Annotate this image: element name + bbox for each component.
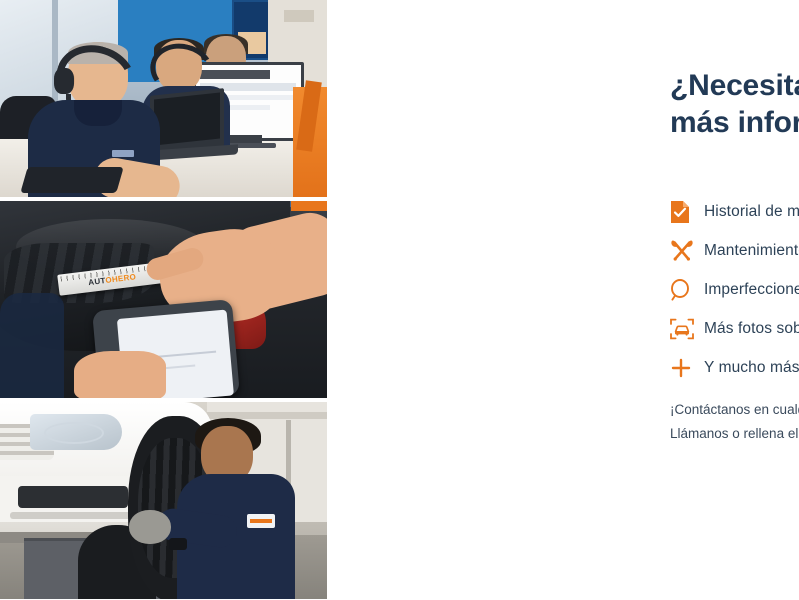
photo-wall-detail [284, 10, 314, 22]
photo-chrome-trim [10, 512, 140, 519]
feature-label: Más fotos sobre el coche [704, 320, 799, 338]
call-center-agents-photo [0, 0, 327, 197]
plus-icon [670, 357, 704, 379]
mechanic-wheel-photo [0, 402, 327, 599]
page-title: ¿Necesitas más información? [670, 68, 799, 141]
feature-label: Imperfecciones [704, 281, 799, 299]
tools-cross-icon [670, 239, 704, 263]
feature-label: Historial de mantenimientos [704, 203, 799, 221]
contact-line-1: ¡Contáctanos en cualquier momento para m… [670, 398, 799, 422]
feature-item-mantenimiento: Mantenimiento realizado [670, 231, 799, 270]
feature-item-fotos: Más fotos sobre el coche [670, 309, 799, 348]
car-viewfinder-icon [670, 318, 704, 340]
document-check-icon [670, 200, 704, 224]
vehicle-inspection-photo: AUTOHERO [0, 201, 327, 398]
contact-text: ¡Contáctanos en cualquier momento para m… [670, 398, 799, 445]
photo-column: AUTOHERO [0, 0, 327, 600]
photo-bumper-vent [18, 486, 128, 508]
feature-label: Mantenimiento realizado [704, 242, 799, 260]
feature-list: Historial de mantenimientos Mantenimient… [670, 192, 799, 387]
content-panel: ¿Necesitas más información? Estamos enca… [327, 0, 799, 600]
info-banner: AUTOHERO [0, 0, 799, 600]
magnifier-icon [670, 278, 704, 302]
contact-line-2: Llámanos o rellena el formulario de cont… [670, 422, 799, 446]
photo-desk-tablet [20, 167, 123, 193]
photo-headlight [30, 414, 122, 450]
feature-item-imperfecciones: Imperfecciones [670, 270, 799, 309]
page-title-line1: ¿Necesitas [670, 68, 799, 105]
photo-background-person [0, 293, 64, 398]
feature-label: Y mucho más [704, 359, 799, 377]
feature-item-historial: Historial de mantenimientos [670, 192, 799, 231]
photo-inspector-hand-lower [74, 351, 166, 398]
feature-item-mas: Y mucho más [670, 348, 799, 387]
page-title-line2: más información? [670, 105, 799, 142]
photo-orange-corner [291, 201, 327, 211]
photo-mechanic [171, 418, 295, 599]
photo-laptop [150, 88, 224, 154]
